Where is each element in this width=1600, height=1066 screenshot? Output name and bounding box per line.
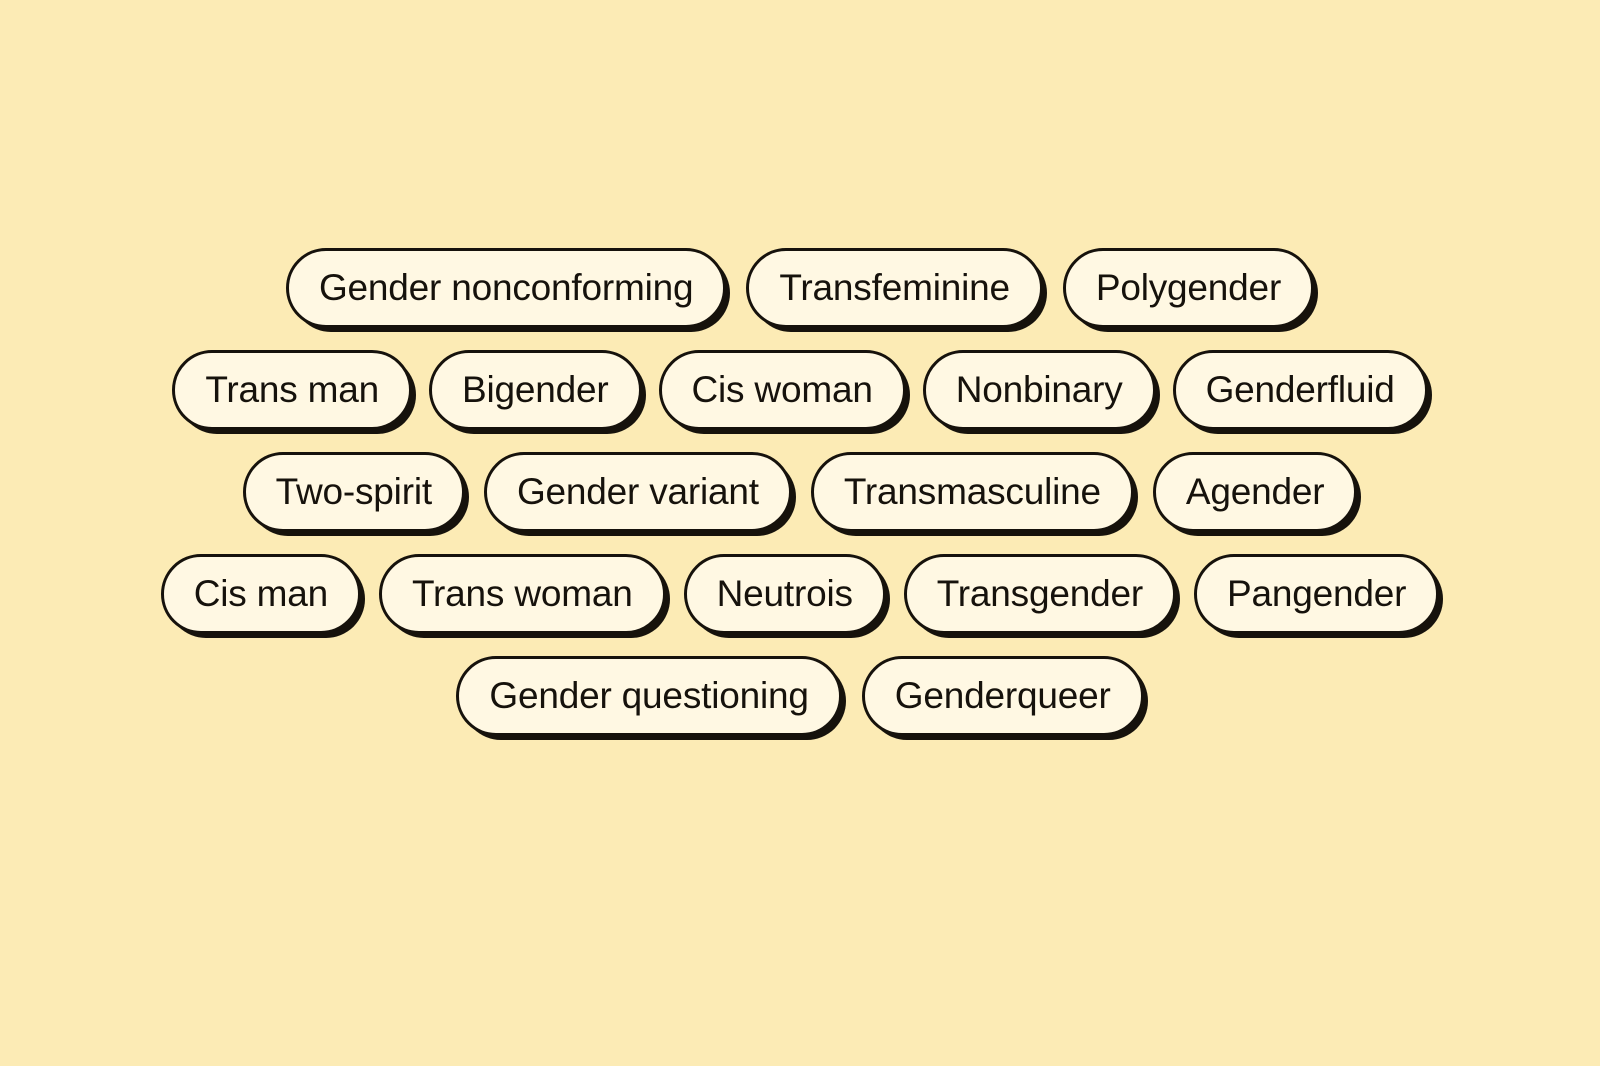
tag-label: Bigender: [462, 371, 609, 408]
tag-pill-gender-nonconforming[interactable]: Gender nonconforming: [286, 248, 726, 328]
tag-label: Gender questioning: [489, 677, 808, 714]
tag-pill-neutrois[interactable]: Neutrois: [684, 554, 886, 634]
tag-pill-trans-man[interactable]: Trans man: [172, 350, 412, 430]
tag-label: Trans man: [205, 371, 379, 408]
tag-pill-gender-variant[interactable]: Gender variant: [484, 452, 792, 532]
tag-pill-gender-questioning[interactable]: Gender questioning: [456, 656, 841, 736]
gender-identity-tag-cloud: Gender nonconforming Transfeminine Polyg…: [0, 0, 1600, 1066]
tag-pill-pangender[interactable]: Pangender: [1194, 554, 1439, 634]
tag-pill-transfeminine[interactable]: Transfeminine: [746, 248, 1042, 328]
tag-row: Cis man Trans woman Neutrois Transgender…: [0, 554, 1600, 634]
tag-pill-two-spirit[interactable]: Two-spirit: [243, 452, 465, 532]
tag-pill-cis-man[interactable]: Cis man: [161, 554, 361, 634]
tag-label: Pangender: [1227, 575, 1406, 612]
tag-pill-transmasculine[interactable]: Transmasculine: [811, 452, 1134, 532]
tag-pill-trans-woman[interactable]: Trans woman: [379, 554, 666, 634]
tag-label: Gender nonconforming: [319, 269, 693, 306]
tag-label: Cis woman: [692, 371, 873, 408]
tag-label: Trans woman: [412, 575, 633, 612]
tag-label: Two-spirit: [276, 473, 432, 510]
tag-pill-genderqueer[interactable]: Genderqueer: [862, 656, 1144, 736]
tag-pill-genderfluid[interactable]: Genderfluid: [1173, 350, 1428, 430]
tag-pill-transgender[interactable]: Transgender: [904, 554, 1176, 634]
tag-pill-cis-woman[interactable]: Cis woman: [659, 350, 906, 430]
tag-label: Genderfluid: [1206, 371, 1395, 408]
tag-pill-polygender[interactable]: Polygender: [1063, 248, 1314, 328]
tag-row: Trans man Bigender Cis woman Nonbinary G…: [0, 350, 1600, 430]
tag-label: Nonbinary: [956, 371, 1123, 408]
tag-label: Transgender: [937, 575, 1143, 612]
tag-label: Gender variant: [517, 473, 759, 510]
tag-row: Two-spirit Gender variant Transmasculine…: [0, 452, 1600, 532]
tag-row: Gender nonconforming Transfeminine Polyg…: [0, 248, 1600, 328]
tag-row: Gender questioning Genderqueer: [0, 656, 1600, 736]
tag-label: Cis man: [194, 575, 328, 612]
tag-label: Transfeminine: [779, 269, 1009, 306]
tag-label: Polygender: [1096, 269, 1281, 306]
tag-label: Genderqueer: [895, 677, 1111, 714]
tag-label: Agender: [1186, 473, 1325, 510]
tag-pill-bigender[interactable]: Bigender: [429, 350, 642, 430]
tag-label: Neutrois: [717, 575, 853, 612]
tag-label: Transmasculine: [844, 473, 1101, 510]
tag-pill-nonbinary[interactable]: Nonbinary: [923, 350, 1156, 430]
tag-pill-agender[interactable]: Agender: [1153, 452, 1358, 532]
